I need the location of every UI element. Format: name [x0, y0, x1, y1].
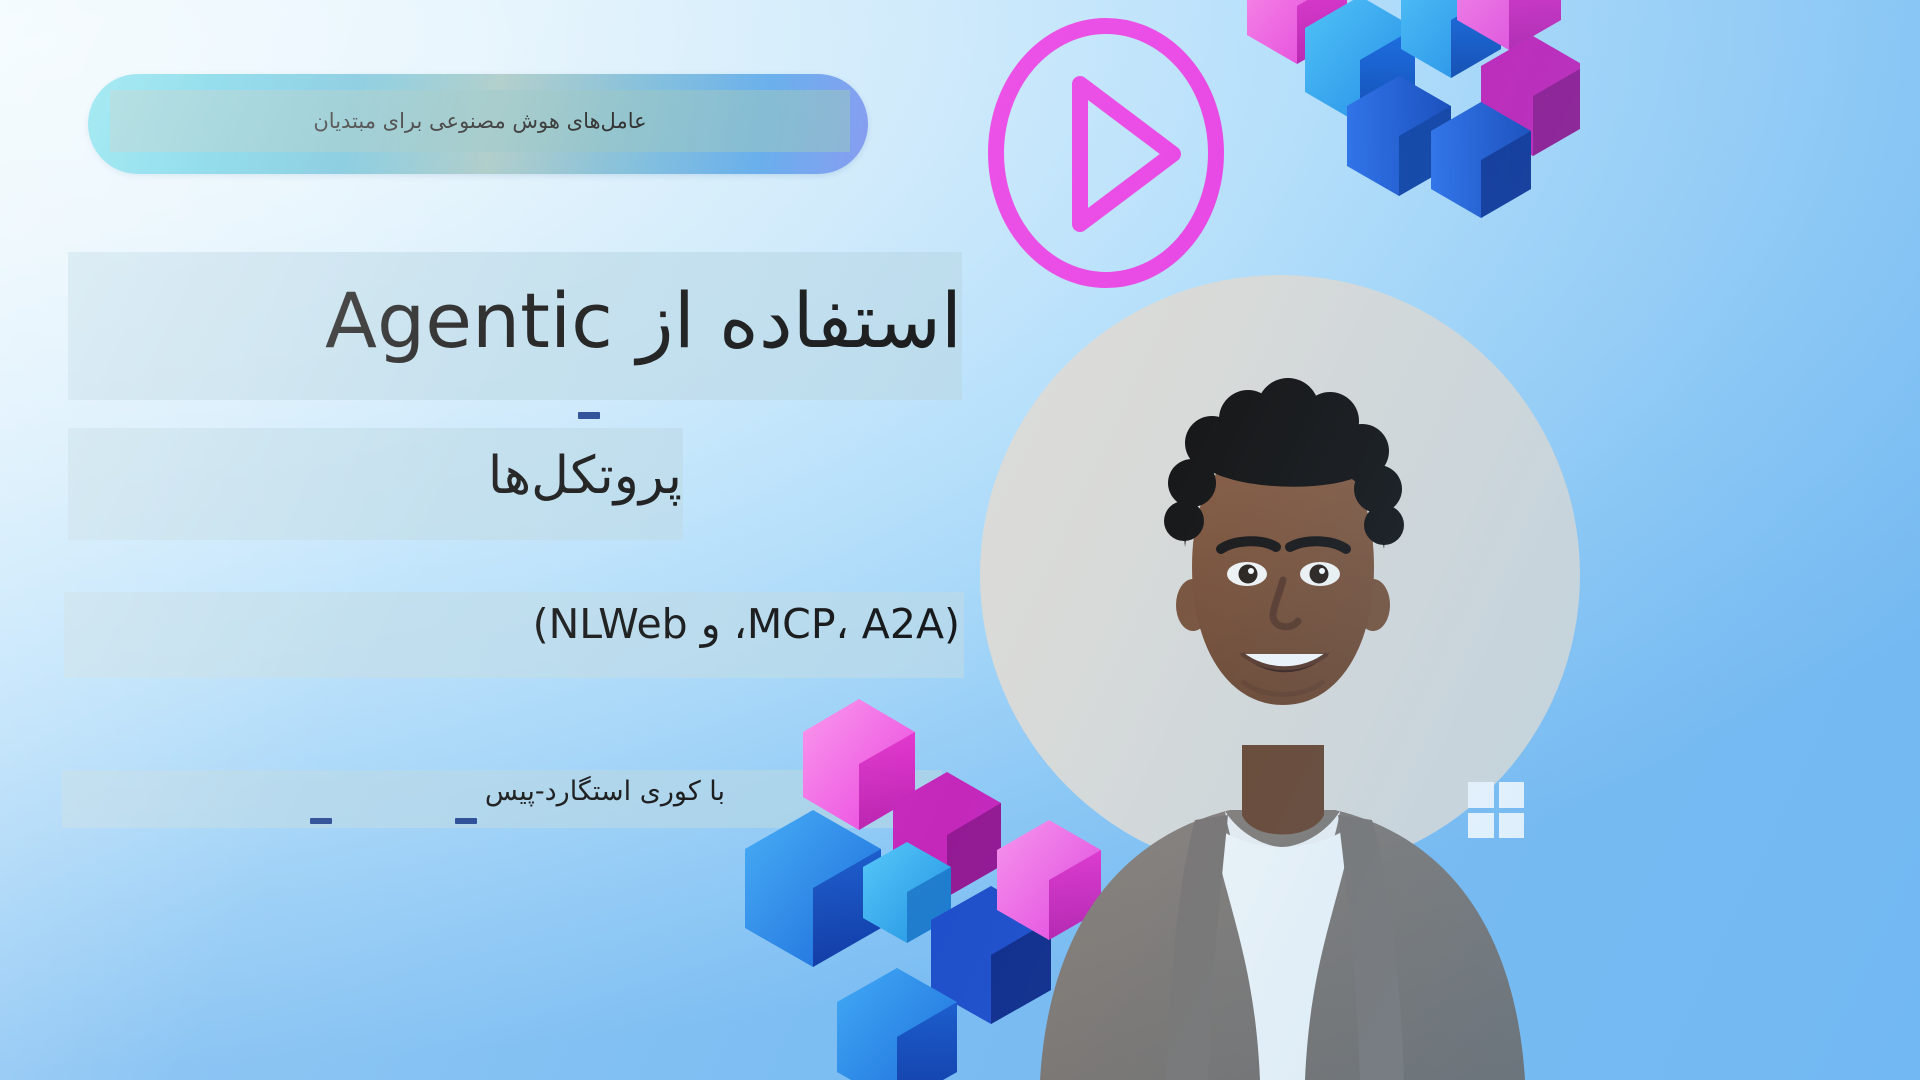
eyebrow-label: عامل‌های هوش مصنوعی برای مبتدیان	[313, 109, 646, 133]
slide-subtitle: پروتکل‌ها	[488, 450, 682, 502]
windows-logo-pane	[1468, 813, 1494, 839]
presenter-portrait	[980, 275, 1580, 1080]
isometric-cubes-decoration	[1235, 0, 1580, 255]
presenter-name: با کوری استگارد-پیس	[485, 778, 725, 805]
dash-mark-icon	[455, 818, 477, 824]
dash-mark-icon	[310, 818, 332, 824]
eyebrow-banner: عامل‌های هوش مصنوعی برای مبتدیان	[110, 90, 850, 152]
protocols-list: (MCP، A2A، و NLWeb)	[533, 604, 960, 645]
play-circle-icon[interactable]	[985, 14, 1227, 292]
windows-logo-pane	[1468, 782, 1494, 808]
windows-logo-pane	[1499, 813, 1525, 839]
dash-mark-icon	[578, 412, 600, 419]
page-title: استفاده از Agentic	[325, 283, 962, 359]
windows-logo-icon	[1468, 782, 1524, 838]
windows-logo-pane	[1499, 782, 1525, 808]
presentation-slide: عامل‌های هوش مصنوعی برای مبتدیان استفاده…	[0, 0, 1920, 1080]
